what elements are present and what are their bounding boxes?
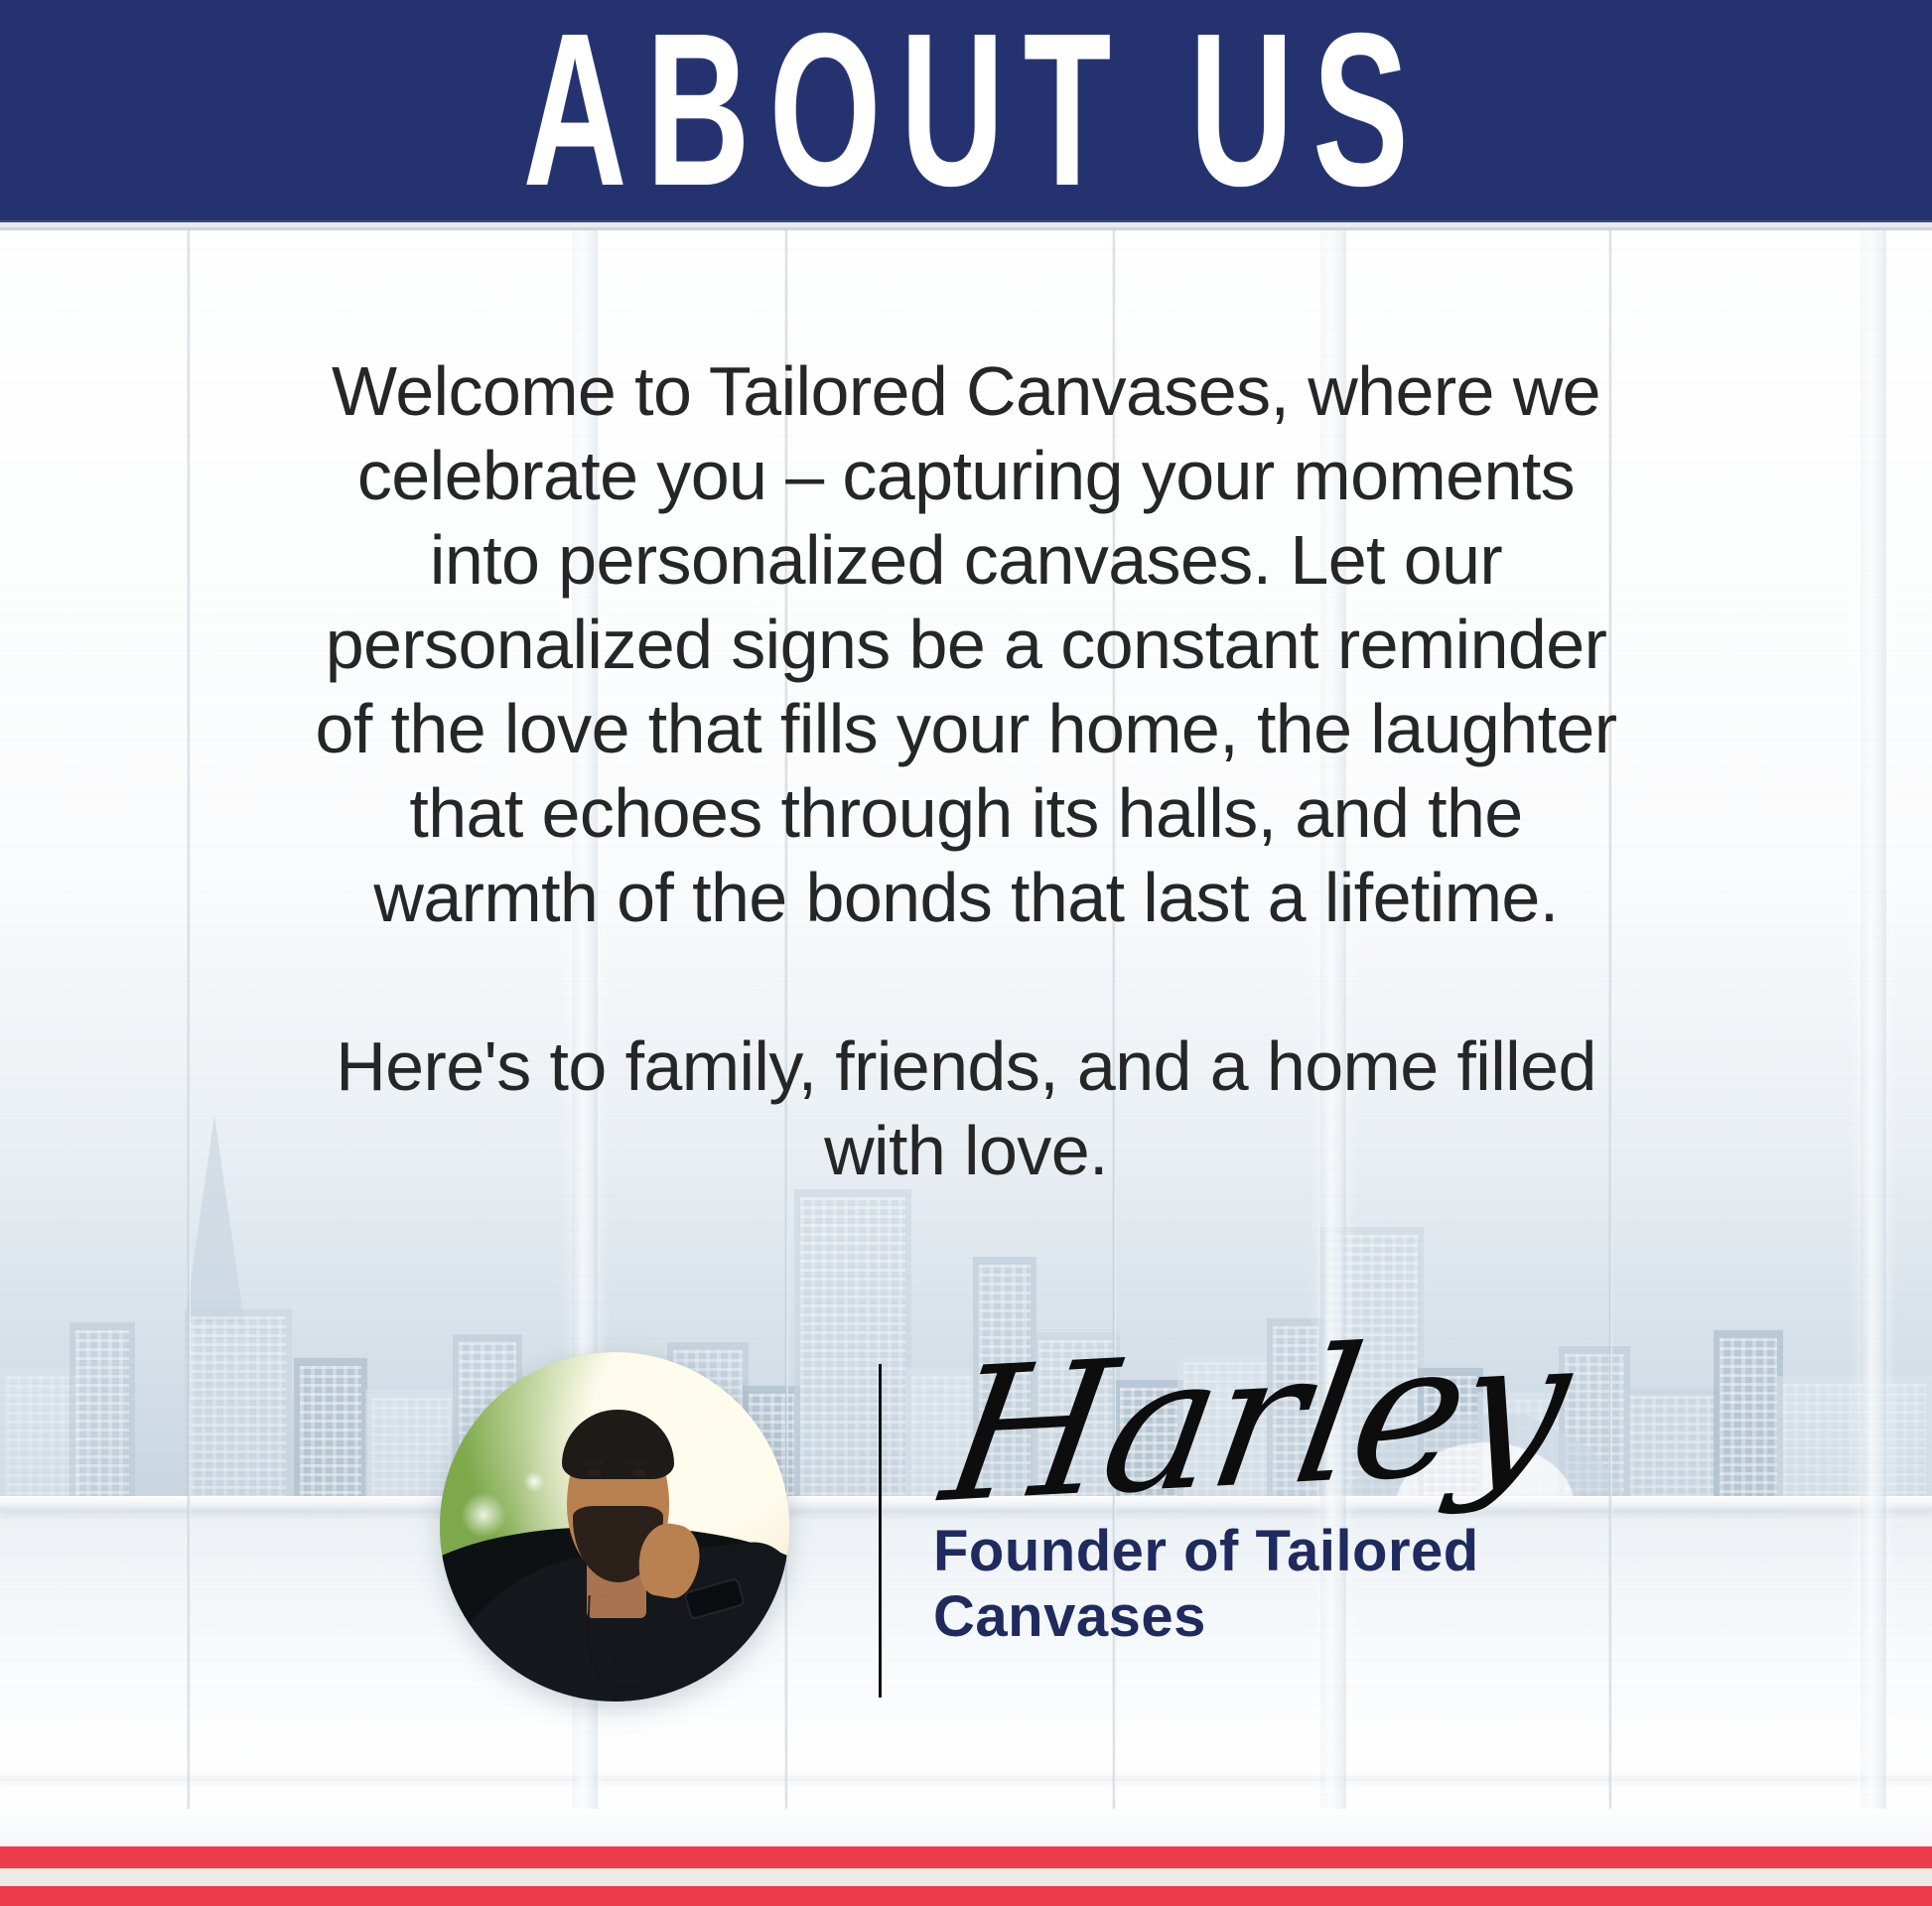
page-title: ABOUT US [504, 1, 1429, 219]
body-line-7: warmth of the bonds that last a lifetime… [261, 856, 1671, 940]
footer-stripe-top [0, 1846, 1932, 1868]
footer-fade [0, 1809, 1932, 1846]
about-us-body-copy: Welcome to Tailored Canvases, where we c… [261, 349, 1671, 1193]
body-line-2: celebrate you – capturing your moments [261, 434, 1671, 518]
founder-signature-block: Harley Founder of Tailored Canvases [0, 1342, 1932, 1809]
portrait-brow-left [582, 1459, 605, 1465]
about-us-poster: ABOUT US Welcome to Tailored Canvases, w… [0, 0, 1932, 1906]
body-line-9: with love. [261, 1109, 1671, 1193]
portrait-eye-left [587, 1469, 602, 1477]
founder-portrait-photo [440, 1352, 789, 1702]
body-line-3: into personalized canvases. Let our [261, 518, 1671, 603]
body-line-8: Here's to family, friends, and a home fi… [261, 1024, 1671, 1109]
founder-title-line-2: Canvases [933, 1584, 1588, 1650]
body-line-6: that echoes through its halls, and the [261, 771, 1671, 856]
header-divider-rule [0, 220, 1932, 230]
footer-stripe-bottom [0, 1886, 1932, 1906]
about-us-header-banner: ABOUT US [0, 0, 1932, 220]
body-line-1: Welcome to Tailored Canvases, where we [261, 349, 1671, 434]
portrait-brow-right [625, 1459, 648, 1465]
signature-divider-line [879, 1364, 882, 1698]
body-line-4: personalized signs be a constant reminde… [261, 603, 1671, 687]
portrait-eye-right [632, 1469, 647, 1477]
footer-stripe-gap [0, 1868, 1932, 1886]
body-line-5: of the love that fills your home, the la… [261, 687, 1671, 771]
founder-signature: Harley [933, 1308, 1625, 1531]
transamerica-pyramid-icon [185, 1116, 244, 1322]
avatar [440, 1352, 789, 1702]
paragraph-spacer [261, 940, 1671, 1024]
founder-title: Founder of Tailored Canvases [933, 1519, 1588, 1650]
signature-group: Harley Founder of Tailored Canvases [933, 1342, 1588, 1650]
